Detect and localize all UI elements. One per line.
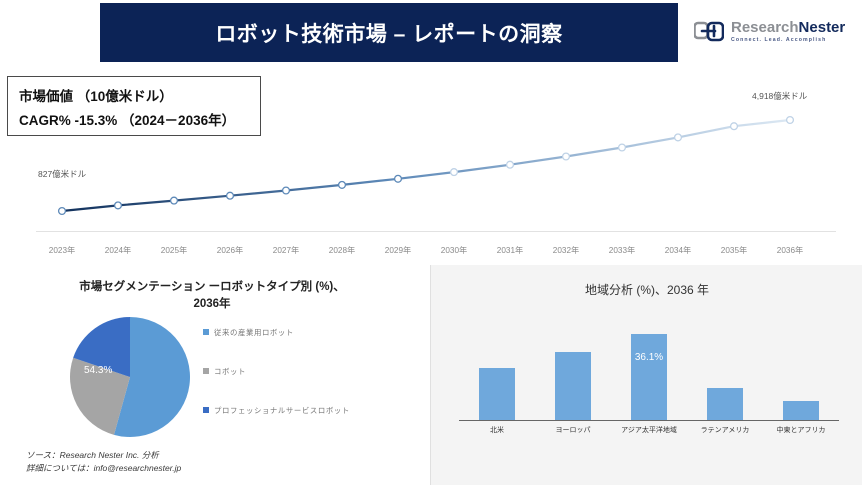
bar-column — [707, 325, 743, 420]
line-data-point — [59, 208, 66, 215]
bar-rect — [631, 334, 667, 420]
pie-legend-label: 従来の産業用ロボット — [214, 327, 294, 338]
line-data-point — [115, 202, 122, 209]
source-line-2: 詳細については：info@researchnester.jp — [26, 462, 181, 475]
line-x-label: 2026年 — [217, 244, 243, 256]
pie-legend-label: プロフェッショナルサービスロボット — [214, 405, 350, 416]
pie-data-label: 54.3% — [84, 365, 112, 376]
pie-legend-label: コボット — [214, 366, 246, 377]
research-nester-logo-icon — [694, 20, 724, 44]
line-data-point — [787, 117, 794, 124]
bar-data-label: 36.1% — [635, 352, 663, 363]
bar-x-label: 中東とアフリカ — [777, 425, 826, 435]
line-x-label: 2025年 — [161, 244, 187, 256]
line-data-point — [339, 182, 346, 189]
brand-logo: ResearchNester Connect. Lead. Accomplish — [694, 14, 854, 50]
pie-chart-svg — [64, 315, 196, 439]
bar-column — [555, 325, 591, 420]
line-data-point — [619, 144, 626, 151]
legend-swatch-icon — [203, 407, 209, 413]
bar-x-label: ヨーロッパ — [556, 425, 591, 435]
regional-analysis-title: 地域分析 (%)、2036 年 — [431, 281, 862, 298]
bar-x-label: ラテンアメリカ — [701, 425, 750, 435]
line-chart-x-labels: 2023年2024年2025年2026年2027年2028年2029年2030年… — [0, 244, 862, 260]
bar-x-label: アジア太平洋地域 — [621, 425, 677, 435]
line-chart-axis — [36, 231, 836, 232]
line-x-label: 2023年 — [49, 244, 75, 256]
logo-wordmark: ResearchNester — [731, 20, 845, 35]
bar-chart-axis — [459, 420, 839, 421]
line-data-point — [171, 197, 178, 204]
line-data-point — [395, 175, 402, 182]
header-band: ロボット技術市場 – レポートの洞察 — [100, 3, 678, 62]
bar-column — [631, 325, 667, 420]
line-start-annotation: 827億米ドル — [38, 168, 86, 180]
pie-legend-item[interactable]: プロフェッショナルサービスロボット — [203, 405, 403, 444]
segmentation-pie-chart — [64, 315, 196, 439]
pie-legend: 従来の産業用ロボットコボットプロフェッショナルサービスロボット — [203, 327, 403, 444]
regional-bar-chart: 36.1% — [459, 325, 839, 420]
segmentation-title-line-1: 市場セグメンテーション ーロボットタイプ別 (%)、 — [0, 279, 424, 296]
line-data-point — [283, 187, 290, 194]
bar-rect — [783, 401, 819, 420]
line-x-label: 2034年 — [665, 244, 691, 256]
logo-text: ResearchNester Connect. Lead. Accomplish — [731, 20, 845, 43]
regional-analysis-panel: 地域分析 (%)、2036 年 36.1% 北米ヨーロッパアジア太平洋地域ラテン… — [430, 265, 862, 485]
pie-legend-item[interactable]: コボット — [203, 366, 403, 405]
line-data-point — [227, 192, 234, 199]
market-value-line-chart — [0, 62, 862, 262]
bar-chart-x-labels: 北米ヨーロッパアジア太平洋地域ラテンアメリカ中東とアフリカ — [459, 425, 839, 441]
segmentation-title-line-2: 2036年 — [0, 296, 424, 313]
line-end-annotation: 4,918億米ドル — [752, 90, 807, 102]
line-x-label: 2030年 — [441, 244, 467, 256]
logo-word-nester: Nester — [799, 19, 846, 36]
line-x-label: 2032年 — [553, 244, 579, 256]
line-x-label: 2036年 — [777, 244, 803, 256]
line-data-point — [675, 134, 682, 141]
segmentation-title: 市場セグメンテーション ーロボットタイプ別 (%)、 2036年 — [0, 279, 424, 313]
line-chart-svg — [0, 62, 862, 262]
line-data-point — [451, 169, 458, 176]
line-data-point — [507, 161, 514, 168]
source-line-1: ソース：Research Nester Inc. 分析 — [26, 449, 181, 462]
source-note: ソース：Research Nester Inc. 分析 詳細については：info… — [26, 449, 181, 475]
logo-word-research: Research — [731, 19, 799, 36]
bar-rect — [555, 352, 591, 420]
bar-column — [783, 325, 819, 420]
line-x-label: 2035年 — [721, 244, 747, 256]
bar-rect — [479, 368, 515, 420]
logo-tagline: Connect. Lead. Accomplish — [731, 38, 845, 43]
line-data-point — [731, 123, 738, 130]
legend-swatch-icon — [203, 329, 209, 335]
line-x-label: 2031年 — [497, 244, 523, 256]
page-title: ロボット技術市場 – レポートの洞察 — [215, 18, 562, 48]
line-x-label: 2027年 — [273, 244, 299, 256]
line-x-label: 2024年 — [105, 244, 131, 256]
line-x-label: 2033年 — [609, 244, 635, 256]
bar-x-label: 北米 — [490, 425, 504, 435]
legend-swatch-icon — [203, 368, 209, 374]
bar-column — [479, 325, 515, 420]
line-x-label: 2029年 — [385, 244, 411, 256]
bar-rect — [707, 388, 743, 420]
pie-legend-item[interactable]: 従来の産業用ロボット — [203, 327, 403, 366]
line-data-point — [563, 153, 570, 160]
line-x-label: 2028年 — [329, 244, 355, 256]
